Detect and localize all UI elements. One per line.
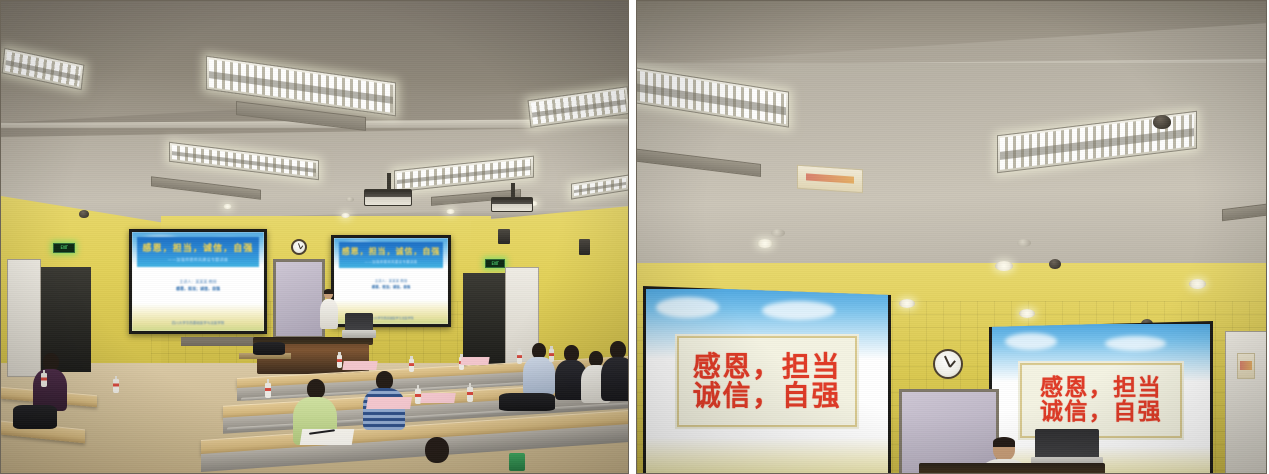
slide-title-main: 感恩，担当，诚信，自强 — [143, 241, 254, 254]
emergency-exit-sign-left: EXIT — [53, 243, 75, 253]
photo-strip: EXIT EXIT — [0, 0, 1269, 474]
slide-body: 主讲人：某某某 教授 感恩，担当；诚信，自强 — [132, 278, 264, 293]
water-bottle-8 — [467, 387, 473, 402]
exit-sign-label: EXIT — [61, 246, 68, 250]
slide-banner: 感恩，担当 诚信，自强 — [677, 336, 856, 427]
screen-face: 感恩，担当，诚信，自强 ——加强师德师风建设专题讲座 主讲人：某某某 教授 感恩… — [334, 238, 448, 324]
slide-content: 感恩，担当 诚信，自强 川大 四川大学华西基础医学与法医学院 West Chin… — [646, 289, 888, 473]
slide-body: 主讲人：某某某 教授 感恩，担当；诚信，自强 — [334, 278, 448, 291]
wall-poster-right-photo — [797, 165, 863, 194]
green-cup — [509, 453, 525, 471]
slide-banner-line-1: 感恩，担当 — [1040, 377, 1162, 400]
lecture-hall-wide-scene: EXIT EXIT — [1, 1, 628, 473]
slide-footer: 四川大学华西基础医学与法医学院 — [132, 319, 264, 328]
water-bottle-5 — [549, 349, 554, 362]
downlight-1 — [757, 239, 773, 248]
screen-face: 感恩，担当，诚信，自强 ——加强师德师风建设专题讲座 主讲人：某某某 教授 感恩… — [132, 232, 264, 331]
slide-content: 感恩，担当，诚信，自强 ——加强师德师风建设专题讲座 主讲人：某某某 教授 感恩… — [132, 232, 264, 331]
wall-speaker-right — [498, 229, 510, 244]
slide-banner-line-2: 诚信，自强 — [1040, 401, 1162, 424]
bag-on-desk-right — [499, 393, 555, 411]
slide-title-band: 感恩，担当，诚信，自强 ——加强师德师风建设专题讲座 — [339, 242, 444, 268]
slide-content: 感恩，担当，诚信，自强 ——加强师德师风建设专题讲座 主讲人：某某某 教授 感恩… — [334, 238, 448, 324]
slide-banner-line-2: 诚信，自强 — [693, 382, 841, 410]
water-bottle-10 — [113, 379, 119, 393]
handbag-left — [13, 405, 57, 429]
right-photo-screen-left[interactable]: 感恩，担当 诚信，自强 川大 四川大学华西基础医学与法医学院 West Chin… — [643, 286, 891, 473]
podium-top-right-photo — [919, 463, 1105, 473]
downlight-4 — [1019, 309, 1035, 318]
ceiling-projector-1 — [364, 189, 412, 206]
downlight-2 — [995, 261, 1013, 271]
wall-clock-left-photo — [291, 239, 307, 255]
doorway-right — [463, 273, 505, 369]
water-bottle-9 — [41, 373, 47, 387]
pink-handout-2 — [460, 357, 489, 365]
slide-cloud-1 — [1005, 333, 1057, 350]
pink-handout-1 — [342, 361, 377, 370]
attendee-torso — [601, 357, 628, 401]
wall-speaker-far-right — [579, 239, 590, 255]
slide-title-band: 感恩，担当，诚信，自强 ——加强师德师风建设专题讲座 — [137, 237, 258, 267]
attendee-head — [307, 379, 325, 399]
speaker-hair — [324, 289, 333, 294]
slide-footer: 川大 四川大学华西基础医学与法医学院 West China — [646, 470, 888, 473]
attendee-head — [425, 437, 449, 463]
slide-cloud-2 — [1105, 336, 1166, 351]
smoke-detector-1 — [771, 229, 785, 237]
emergency-exit-sign-right: EXIT — [485, 259, 505, 268]
downlight-3 — [899, 299, 915, 308]
security-camera-dome-lower — [1049, 259, 1061, 269]
slide-footer-text: 四川大学华西基础医学与法医学院 — [172, 321, 225, 326]
clock-hand-minute — [944, 356, 950, 368]
smoke-detector-1 — [346, 197, 354, 202]
lecture-hall-closeup-scene: 感恩，担当 诚信，自强 川大 四川大学华西基础医学与法医学院 West Chin… — [637, 1, 1266, 473]
speaker-hair — [993, 437, 1015, 447]
slide-banner-line-1: 感恩，担当 — [693, 353, 841, 381]
water-bottle-2 — [409, 359, 414, 372]
attendee-torso — [523, 357, 555, 395]
slide-body-line-2: 感恩，担当；诚信，自强 — [132, 285, 264, 293]
speaker-left-photo — [317, 289, 341, 341]
downlight-3 — [446, 209, 455, 214]
screen-face: 感恩，担当 诚信，自强 川大 四川大学华西基础医学与法医学院 West Chin… — [646, 289, 888, 473]
slide-body-line-1: 主讲人：某某某 教授 — [132, 278, 264, 286]
slide-title-sub: ——加强师德师风建设专题讲座 — [168, 257, 228, 263]
exit-sign-label-right: EXIT — [492, 262, 499, 266]
water-bottle-1 — [337, 355, 342, 368]
downlight-2 — [341, 213, 350, 218]
attendee-right-dark-2 — [601, 341, 628, 407]
attendee-back-row-1 — [413, 437, 461, 473]
security-camera-dome-left — [79, 210, 89, 218]
wall-clock-right-photo — [933, 349, 963, 379]
speaker-torso — [320, 299, 338, 329]
slide-footer-text: 四川大学华西基础医学与法医学院 — [368, 316, 413, 320]
left-photo-screen-left[interactable]: 感恩，担当，诚信，自强 ——加强师德师风建设专题讲座 主讲人：某某某 教授 感恩… — [129, 229, 267, 334]
slide-body-line-2: 感恩，担当；诚信，自强 — [334, 284, 448, 291]
water-bottle-4 — [517, 351, 522, 364]
slide-title-main: 感恩，担当，诚信，自强 — [342, 246, 441, 257]
slide-cloud-2 — [762, 301, 835, 320]
photo-left: EXIT EXIT — [0, 0, 629, 474]
slide-body-line-1: 主讲人：某某某 教授 — [334, 278, 448, 285]
photo-right: 感恩，担当 诚信，自强 川大 四川大学华西基础医学与法医学院 West Chin… — [636, 0, 1267, 474]
ceiling-projector-2 — [491, 197, 533, 212]
downlight-1 — [223, 204, 232, 209]
water-bottle-6 — [265, 383, 271, 398]
pink-handout-3 — [366, 397, 412, 409]
slide-banner: 感恩，担当 诚信，自强 — [1020, 363, 1181, 438]
security-camera-dome-ceiling — [1153, 115, 1171, 129]
bag-on-side-table — [253, 342, 285, 355]
slide-title-sub: ——加强师德师风建设专题讲座 — [365, 260, 418, 265]
downlight-5 — [1189, 279, 1206, 289]
wall-picture-right — [1237, 353, 1255, 379]
slide-cloud-1 — [656, 297, 719, 318]
laptop-base-left-photo — [342, 330, 376, 338]
smoke-detector-2 — [1017, 239, 1031, 247]
attendee-torso — [363, 388, 405, 430]
pink-handout-4 — [420, 393, 456, 403]
